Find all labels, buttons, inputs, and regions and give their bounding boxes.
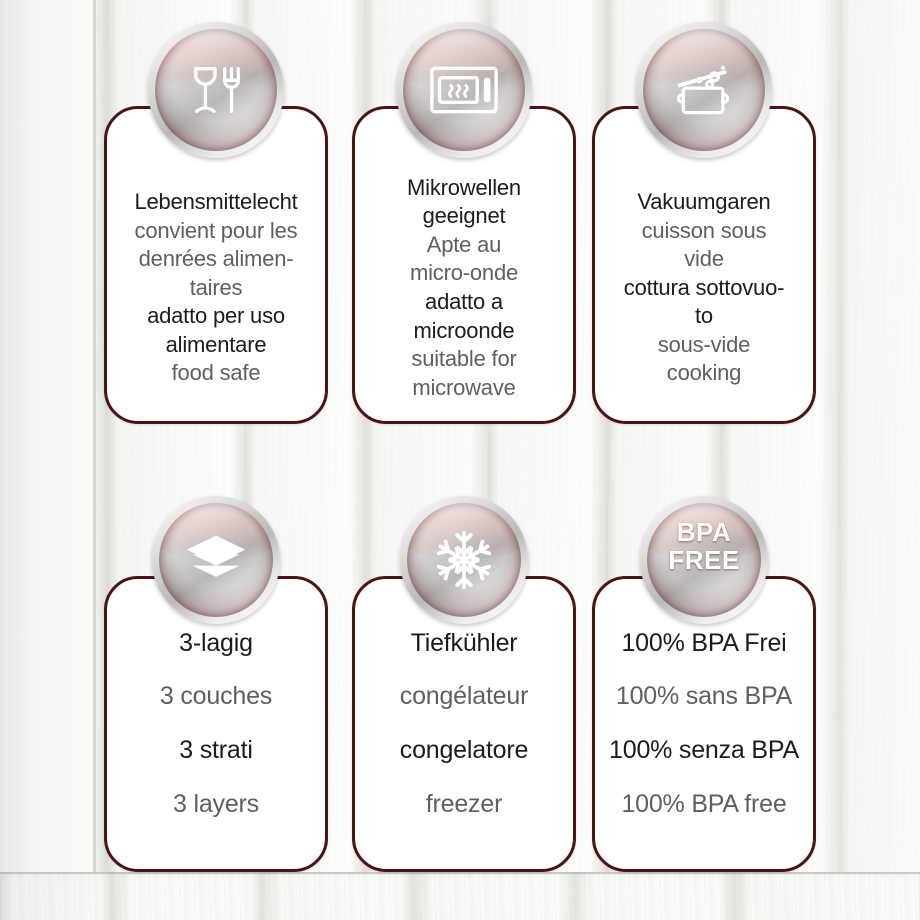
feature-card-sous-vide[interactable]: Vakuumgaren cuisson sous vide cottura so… — [592, 106, 816, 424]
cooking-pot-icon — [636, 22, 772, 158]
feature-card-bpa-free[interactable]: 100% BPA Frei 100% sans BPA 100% senza B… — [592, 576, 816, 872]
feature-card-food-safe[interactable]: Lebensmittelecht convient pour les denré… — [104, 106, 328, 424]
card-line: 3 strati — [110, 724, 322, 778]
feature-card-freezer-safe[interactable]: Tiefkühler congélateur congelatore freez… — [352, 576, 576, 872]
card-line: food safe — [110, 359, 322, 388]
card-line: microwave — [358, 374, 570, 403]
icon-badge — [400, 496, 528, 624]
card-line: 3 layers — [110, 778, 322, 832]
microwave-icon — [396, 22, 532, 158]
card-line: to — [598, 302, 810, 331]
card-line: 3 couches — [110, 670, 322, 724]
feature-card-three-layers[interactable]: 3-lagig 3 couches 3 strati 3 layers — [104, 576, 328, 872]
feature-grid: Lebensmittelecht convient pour les denré… — [0, 0, 920, 920]
card-line: microonde — [358, 317, 570, 346]
icon-badge — [396, 22, 532, 158]
card-line: 100% BPA Frei — [598, 617, 810, 671]
card-line: Lebensmittelecht — [110, 188, 322, 217]
card-line: Tiefkühler — [358, 617, 570, 671]
card-line: taires — [110, 274, 322, 303]
card-line: congelatore — [358, 724, 570, 778]
card-line: cuisson sous — [598, 217, 810, 246]
card-line: geeignet — [358, 202, 570, 231]
card-line: cottura sottovuo- — [598, 274, 810, 303]
card-line: freezer — [358, 778, 570, 832]
card-line: vide — [598, 245, 810, 274]
card-line: adatto per uso — [110, 302, 322, 331]
card-line: adatto a — [358, 288, 570, 317]
card-line: suitable for — [358, 345, 570, 374]
card-line: 100% sans BPA — [598, 670, 810, 724]
card-line: cooking — [598, 359, 810, 388]
card-line: convient pour les — [110, 217, 322, 246]
card-line: 3-lagig — [110, 617, 322, 671]
card-line: Vakuumgaren — [598, 188, 810, 217]
card-line: sous-vide — [598, 331, 810, 360]
glass-and-fork-icon — [148, 22, 284, 158]
layers-icon — [152, 496, 280, 624]
icon-badge — [152, 496, 280, 624]
icon-badge — [148, 22, 284, 158]
card-line: alimentare — [110, 331, 322, 360]
bpa-badge-line1: BPA — [677, 519, 731, 547]
card-line: 100% BPA free — [598, 778, 810, 832]
card-line: 100% senza BPA — [598, 724, 810, 778]
icon-badge: BPA FREE — [640, 496, 768, 624]
card-line: congélateur — [358, 670, 570, 724]
snowflake-icon — [400, 496, 528, 624]
card-line: Mikrowellen — [358, 174, 570, 203]
card-line: denrées alimen- — [110, 245, 322, 274]
card-line: micro-onde — [358, 259, 570, 288]
feature-card-microwave-safe[interactable]: Mikrowellen geeignet Apte au micro-onde … — [352, 106, 576, 424]
bpa-badge-line2: FREE — [668, 547, 739, 575]
card-line: Apte au — [358, 231, 570, 260]
bpa-free-badge: BPA FREE — [640, 496, 768, 624]
icon-badge — [636, 22, 772, 158]
